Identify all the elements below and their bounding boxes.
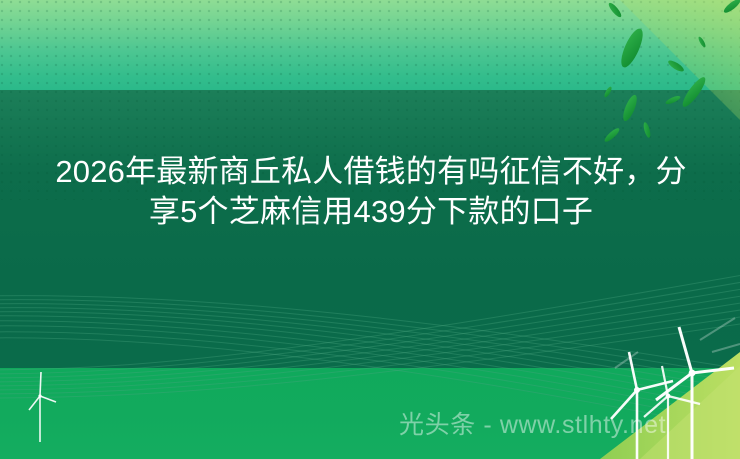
- page-title: 2026年最新商丘私人借钱的有吗征信不好，分享5个芝麻信用439分下款的口子: [46, 152, 696, 232]
- poster-canvas: 2026年最新商丘私人借钱的有吗征信不好，分享5个芝麻信用439分下款的口子 光…: [0, 0, 740, 459]
- background-band-top: [0, 0, 740, 90]
- site-watermark: 光头条 - www.stlhty.net: [399, 409, 666, 441]
